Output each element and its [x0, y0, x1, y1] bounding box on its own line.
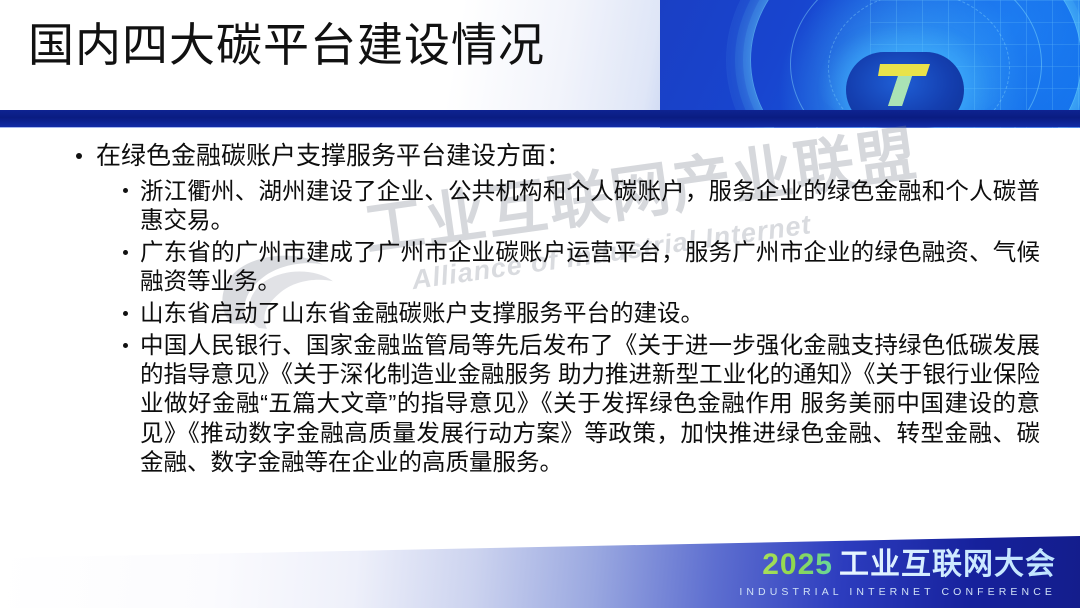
- conference-logo-row: 2025 工业互联网大会: [739, 539, 1056, 583]
- slide-body: 在绿色金融碳账户支撑服务平台建设方面： 浙江衢州、湖州建设了企业、公共机构和个人…: [0, 140, 1080, 480]
- bullet-dot-icon: [123, 311, 128, 316]
- t-logo-icon: [876, 58, 934, 110]
- bullet-level2-text: 广东省的广州市建成了广州市企业碳账户运营平台，服务广州市企业的绿色融资、气候融资…: [140, 239, 1040, 294]
- conference-name-en: INDUSTRIAL INTERNET CONFERENCE: [739, 586, 1056, 598]
- presentation-slide: 国内四大碳平台建设情况 工业互联网产业联盟 Alliance of Indust…: [0, 0, 1080, 608]
- bullet-list-level1: 在绿色金融碳账户支撑服务平台建设方面： 浙江衢州、湖州建设了企业、公共机构和个人…: [0, 140, 1080, 477]
- header-divider-bar: [0, 110, 1080, 127]
- bullet-level2: 山东省启动了山东省金融碳账户支撑服务平台的建设。: [120, 299, 1040, 328]
- bullet-dot-icon: [123, 188, 128, 193]
- bullet-list-level2: 浙江衢州、湖州建设了企业、公共机构和个人碳账户，服务企业的绿色金融和个人碳普惠交…: [96, 177, 1040, 477]
- bullet-dot-icon: [123, 343, 128, 348]
- bullet-dot-icon: [76, 153, 82, 159]
- bullet-level2: 广东省的广州市建成了广州市企业碳账户运营平台，服务广州市企业的绿色融资、气候融资…: [120, 238, 1040, 296]
- slide-header: 国内四大碳平台建设情况: [0, 0, 1080, 128]
- bullet-level2-text: 浙江衢州、湖州建设了企业、公共机构和个人碳账户，服务企业的绿色金融和个人碳普惠交…: [140, 178, 1040, 233]
- header-tech-graphic: [660, 0, 1080, 128]
- conference-year: 2025: [762, 548, 833, 582]
- bullet-level1: 在绿色金融碳账户支撑服务平台建设方面： 浙江衢州、湖州建设了企业、公共机构和个人…: [74, 140, 1040, 477]
- bullet-level2: 中国人民银行、国家金融监管局等先后发布了《关于进一步强化金融支持绿色低碳发展的指…: [120, 331, 1040, 477]
- bullet-dot-icon: [123, 250, 128, 255]
- bullet-level2: 浙江衢州、湖州建设了企业、公共机构和个人碳账户，服务企业的绿色金融和个人碳普惠交…: [120, 177, 1040, 235]
- bullet-level1-text: 在绿色金融碳账户支撑服务平台建设方面：: [96, 142, 571, 170]
- conference-name-zh: 工业互联网大会: [839, 539, 1056, 583]
- bullet-level2-text: 中国人民银行、国家金融监管局等先后发布了《关于进一步强化金融支持绿色低碳发展的指…: [140, 332, 1040, 475]
- bullet-level2-text: 山东省启动了山东省金融碳账户支撑服务平台的建设。: [140, 300, 704, 326]
- page-title: 国内四大碳平台建设情况: [28, 22, 545, 68]
- header-divider-glow: [0, 127, 1080, 128]
- conference-logo: 2025 工业互联网大会 INDUSTRIAL INTERNET CONFERE…: [739, 539, 1056, 598]
- slide-footer: 2025 工业互联网大会 INDUSTRIAL INTERNET CONFERE…: [0, 530, 1080, 608]
